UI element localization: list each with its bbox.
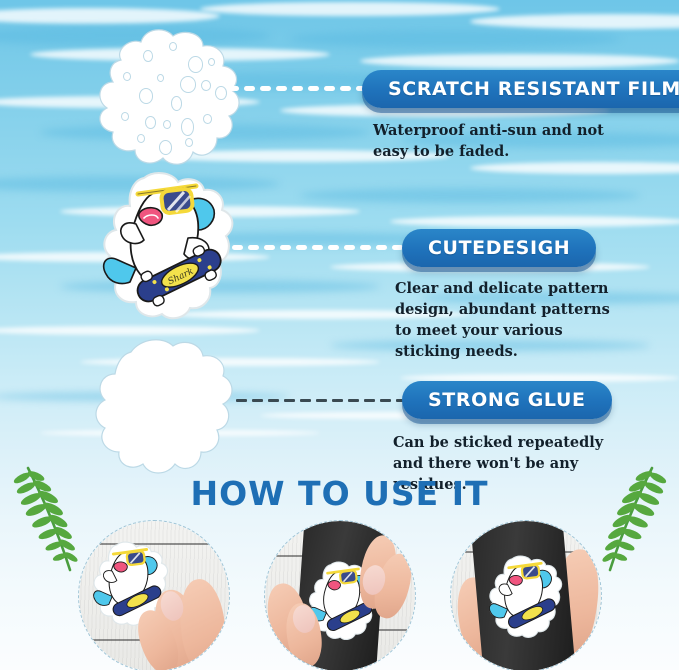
infographic-page: SCRATCH RESISTANT FILM Waterproof anti-s… (0, 0, 679, 670)
sticker-silhouette-icon (85, 330, 255, 490)
how-to-use-step-2-photo (264, 520, 416, 670)
blank-sticker-with-droplets-art (85, 20, 255, 190)
badge-scratch-resistant-film[interactable]: SCRATCH RESISTANT FILM (362, 70, 679, 108)
shark-sticker-icon: Shark (92, 168, 242, 328)
badge-cute-design[interactable]: CUTEDESIGH (402, 229, 596, 267)
how-to-use-step-1-photo (78, 520, 230, 670)
badge-strong-glue[interactable]: STRONG GLUE (402, 381, 612, 419)
right-fern-icon (592, 462, 672, 587)
feature-description-scratch-resistant-film: Waterproof anti-sun and not easy to be f… (373, 120, 623, 162)
how-to-use-step-3-photo (450, 520, 602, 670)
connector-line-2 (232, 245, 403, 250)
shark-sticker-icon (483, 553, 567, 643)
how-to-use-title: HOW TO USE IT (0, 474, 679, 513)
connector-line-3 (236, 398, 407, 403)
left-fern-icon (8, 462, 88, 587)
feature-description-cute-design: Clear and delicate pattern design, abund… (395, 278, 630, 362)
shark-skateboard-sticker-art: Shark (92, 168, 242, 333)
